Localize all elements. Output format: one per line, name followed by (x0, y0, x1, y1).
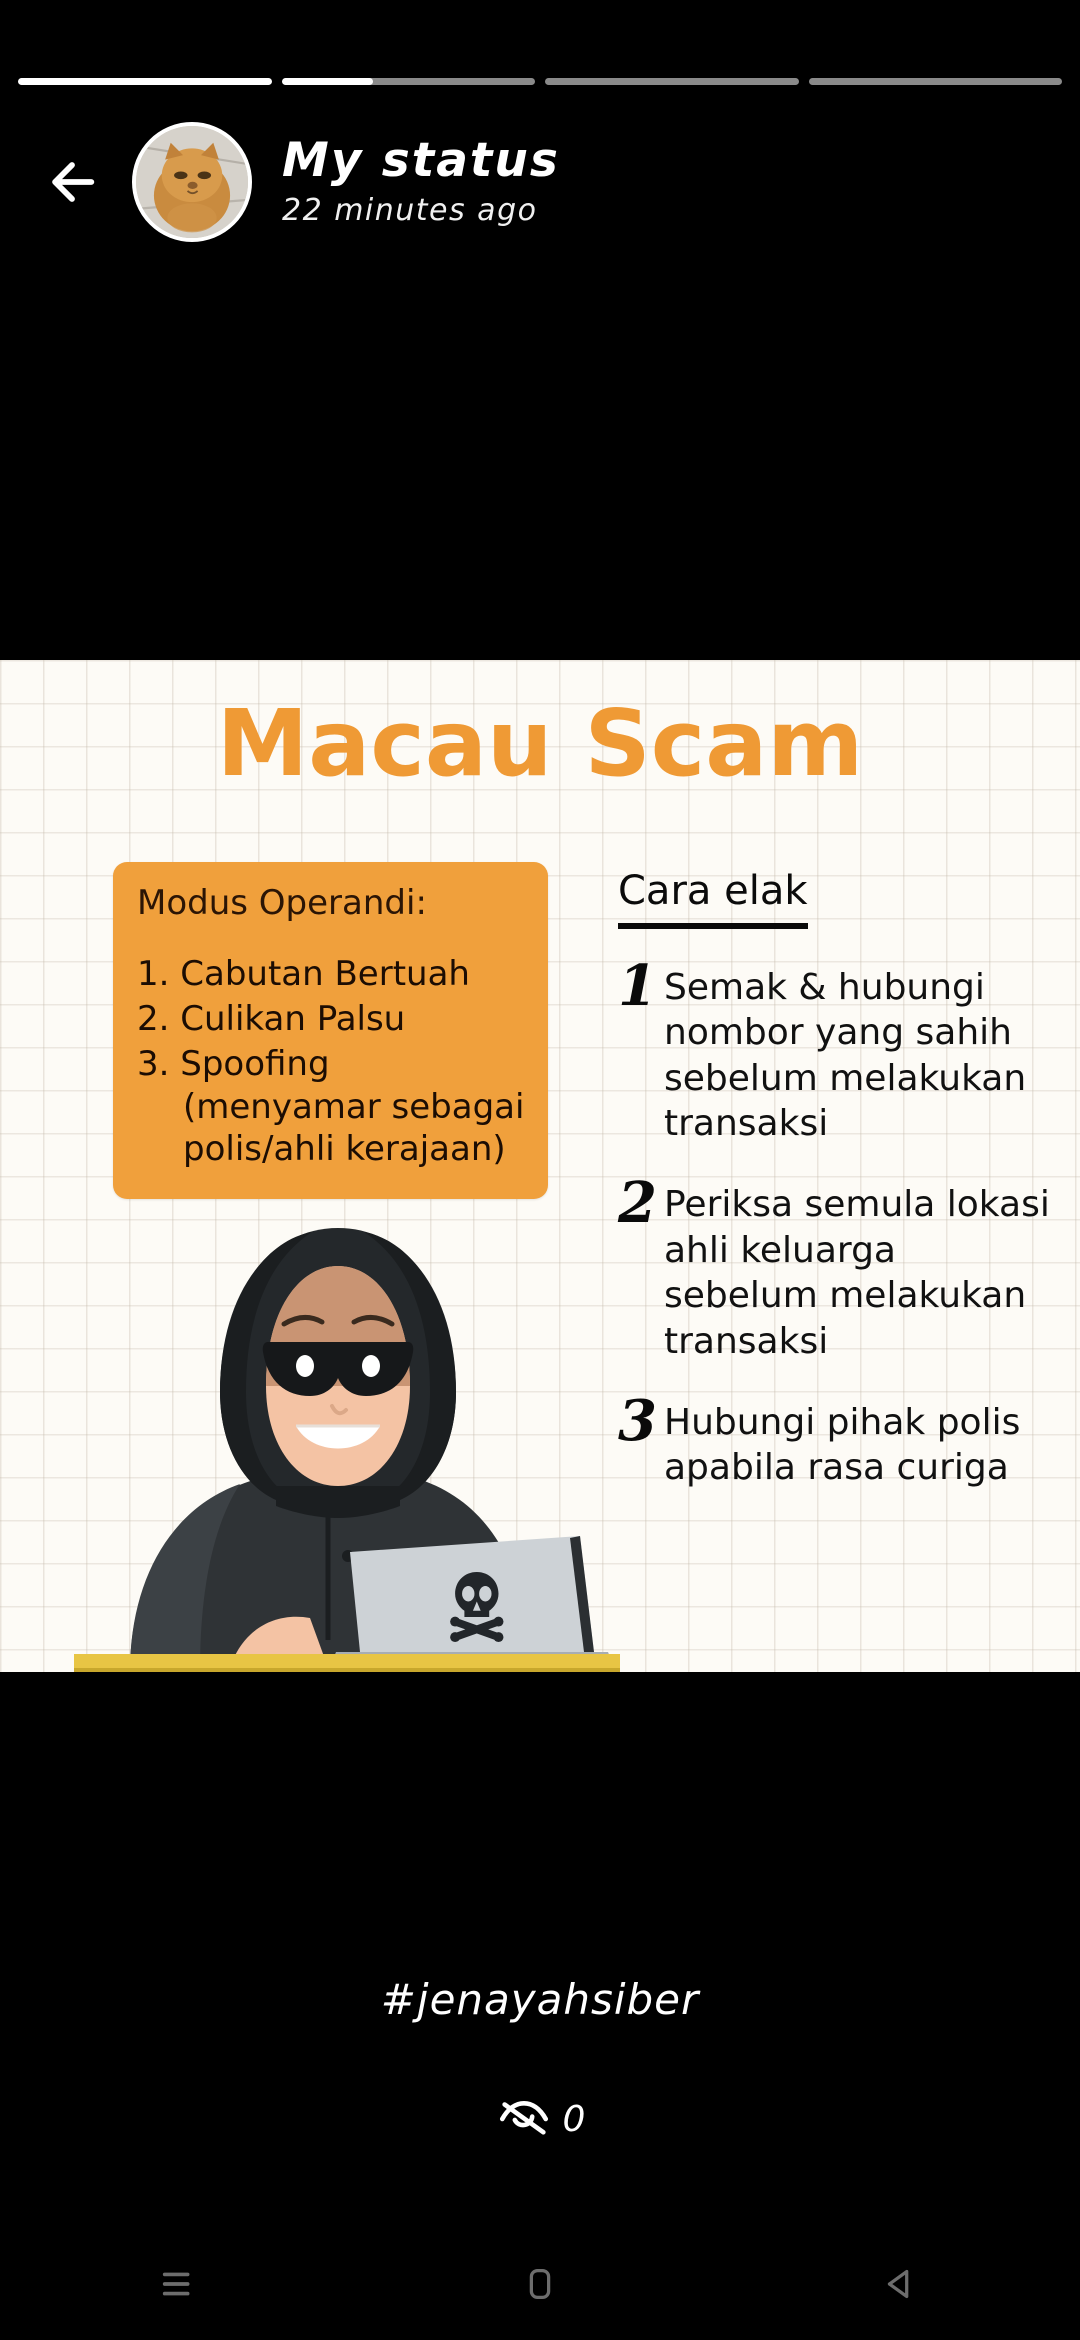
modus-operandi-item: 1. Cabutan Bertuah (137, 953, 528, 996)
cara-elak-column: Cara elak 1 Semak & hubungi nombor yang … (618, 868, 1058, 1491)
back-arrow-icon (43, 153, 101, 211)
cara-elak-heading: Cara elak (618, 868, 808, 929)
modus-operandi-item: 3. Spoofing (menyamar sebagai polis/ahli… (137, 1043, 528, 1171)
tip-number: 1 (618, 961, 664, 1146)
tip-number: 3 (618, 1396, 664, 1491)
avatar[interactable] (132, 122, 252, 242)
cara-elak-tip: 3 Hubungi pihak polis apabila rasa curig… (618, 1400, 1058, 1491)
cara-elak-tip: 2 Periksa semula lokasi ahli keluarga se… (618, 1182, 1058, 1363)
cat-avatar (136, 126, 248, 238)
recents-menu-icon (157, 2261, 203, 2307)
back-button[interactable] (18, 128, 126, 236)
status-caption: #jenayahsiber (0, 1975, 1080, 2024)
modus-operandi-card: Modus Operandi: 1. Cabutan Bertuah 2. Cu… (113, 862, 548, 1199)
back-triangle-icon (877, 2261, 923, 2307)
laptop (328, 1536, 616, 1672)
cara-elak-tip: 1 Semak & hubungi nombor yang sahih sebe… (618, 965, 1058, 1146)
home-button[interactable] (480, 2228, 600, 2340)
eye-slash-icon (495, 2090, 553, 2148)
status-header: My status 22 minutes ago (0, 112, 1080, 252)
tip-number: 2 (618, 1178, 664, 1363)
back-nav-button[interactable] (840, 2228, 960, 2340)
story-progress-segment-2[interactable] (282, 78, 536, 85)
tip-text: Semak & hubungi nombor yang sahih sebelu… (664, 965, 1058, 1146)
status-views-row[interactable]: 0 (0, 2090, 1080, 2148)
android-nav-bar (0, 2228, 1080, 2340)
story-progress-segment-4[interactable] (809, 78, 1063, 85)
hacker-at-laptop-illustration (60, 1200, 620, 1672)
story-progress-bars (0, 78, 1080, 85)
story-progress-segment-1[interactable] (18, 78, 272, 85)
views-count: 0 (563, 2099, 586, 2140)
infographic-title: Macau Scam (0, 690, 1080, 797)
tip-text: Hubungi pihak polis apabila rasa curiga (664, 1400, 1058, 1491)
modus-operandi-item: 2. Culikan Palsu (137, 998, 528, 1041)
header-text-block: My status 22 minutes ago (282, 136, 560, 228)
recents-button[interactable] (120, 2228, 240, 2340)
status-timestamp: 22 minutes ago (282, 193, 560, 228)
home-square-icon (517, 2261, 563, 2307)
modus-operandi-heading: Modus Operandi: (137, 884, 528, 923)
tip-text: Periksa semula lokasi ahli keluarga sebe… (664, 1182, 1058, 1363)
status-title: My status (282, 136, 560, 185)
story-progress-segment-3[interactable] (545, 78, 799, 85)
